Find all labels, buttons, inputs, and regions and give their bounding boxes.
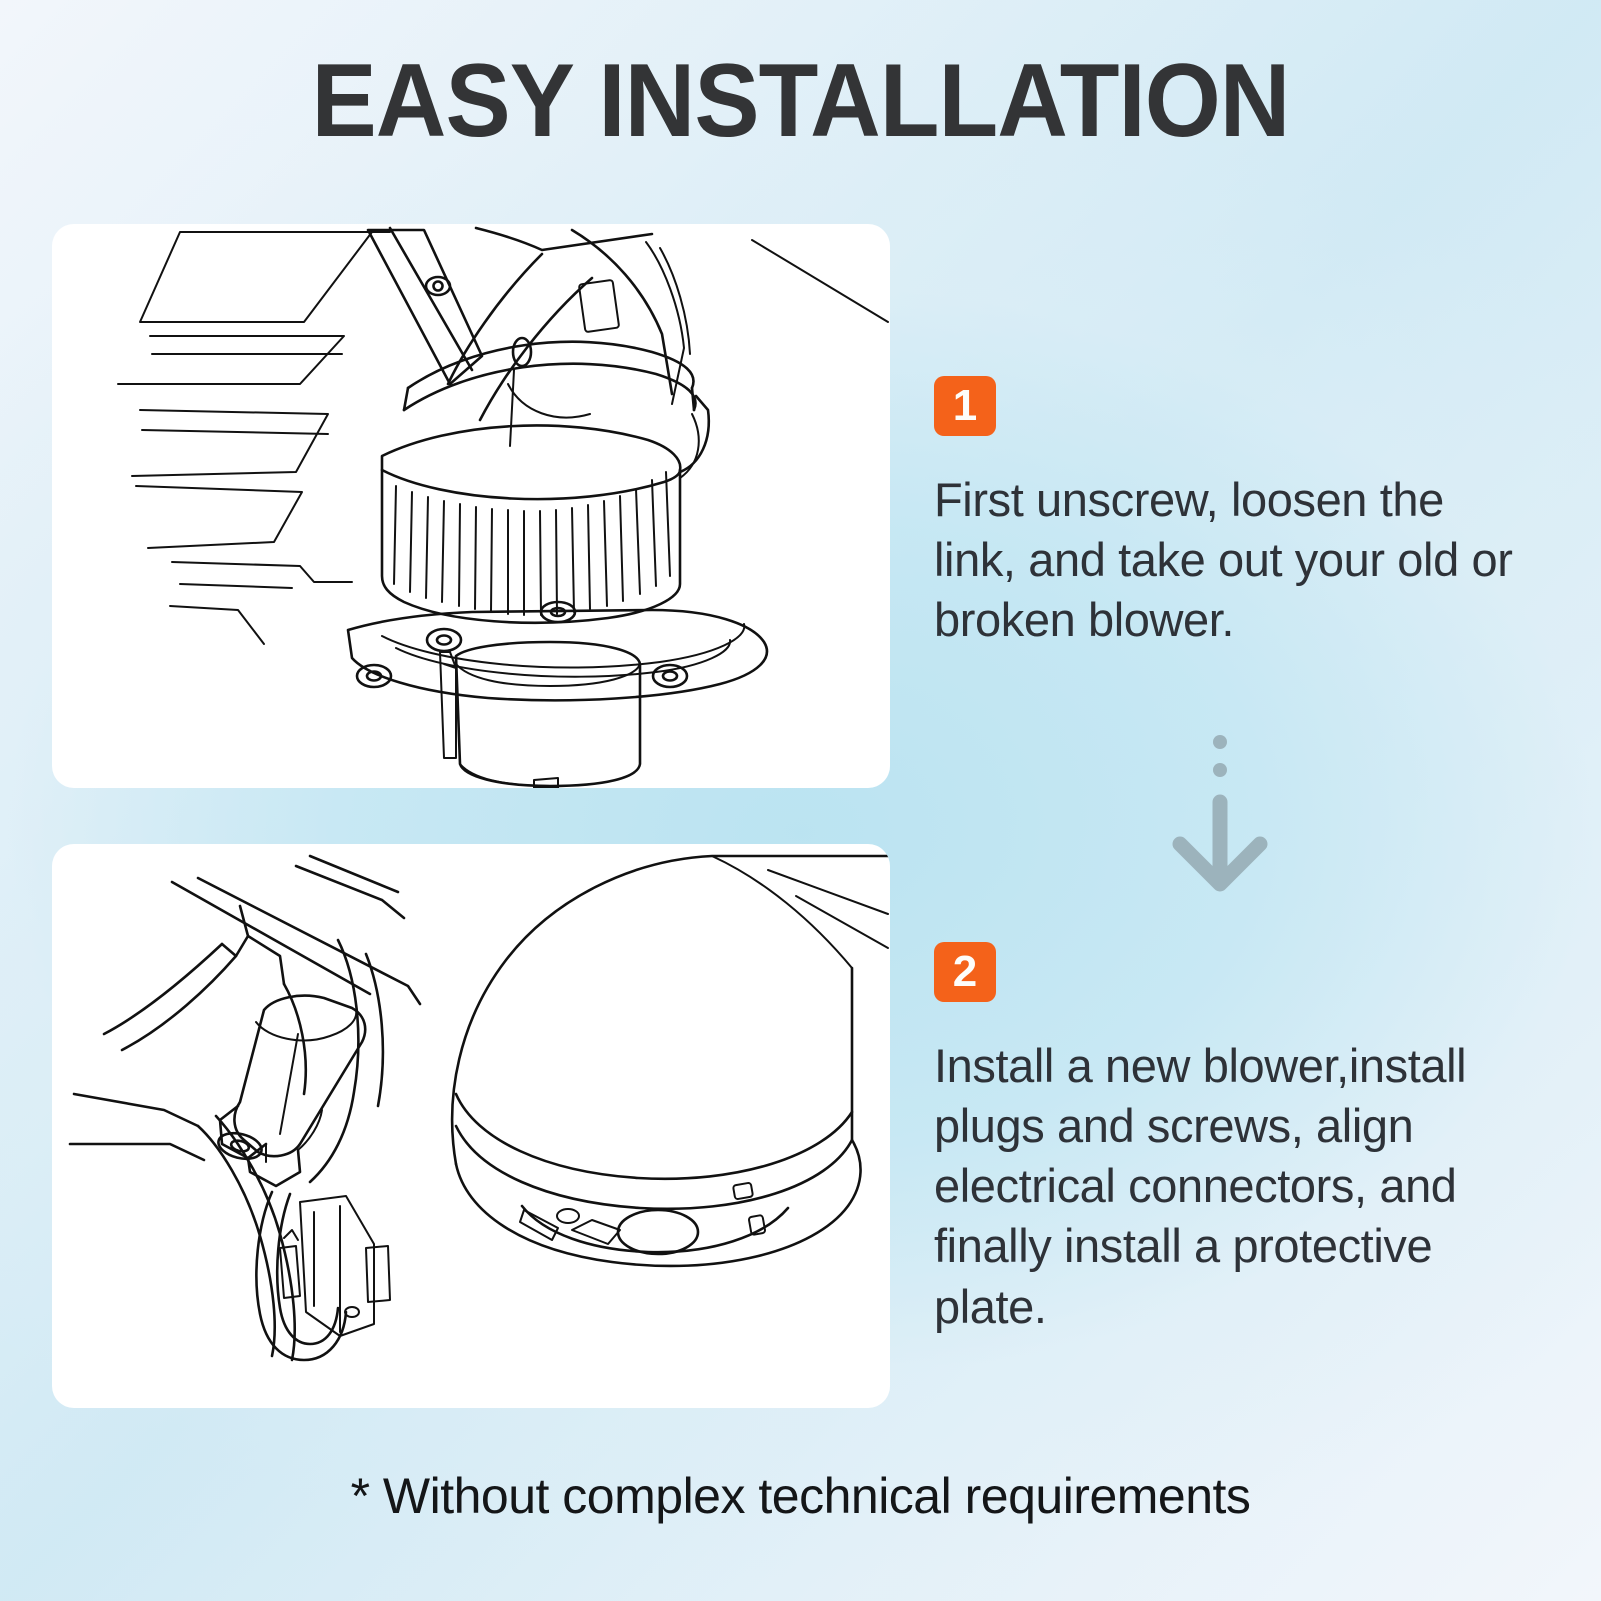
easy-installation-infographic: EASY INSTALLATION	[0, 0, 1601, 1601]
blower-motor-assembly-icon	[52, 224, 890, 788]
dotted-down-arrow-icon	[1140, 726, 1300, 906]
blower-electrical-connector-icon	[52, 844, 890, 1408]
page-title: EASY INSTALLATION	[48, 46, 1553, 156]
step-description-2: Install a new blower,install plugs and s…	[934, 1036, 1548, 1337]
step-description-1: First unscrew, loosen the link, and take…	[934, 470, 1514, 650]
step-item-2: 2 Install a new blower,install plugs and…	[934, 942, 1554, 1337]
footer-note: * Without complex technical requirements	[0, 1466, 1601, 1526]
step-item-1: 1 First unscrew, loosen the link, and ta…	[934, 376, 1534, 650]
illustration-card-step-2	[52, 844, 890, 1408]
illustration-card-step-1	[52, 224, 890, 788]
step-number-badge-2: 2	[934, 942, 996, 1002]
step-number-badge-1: 1	[934, 376, 996, 436]
